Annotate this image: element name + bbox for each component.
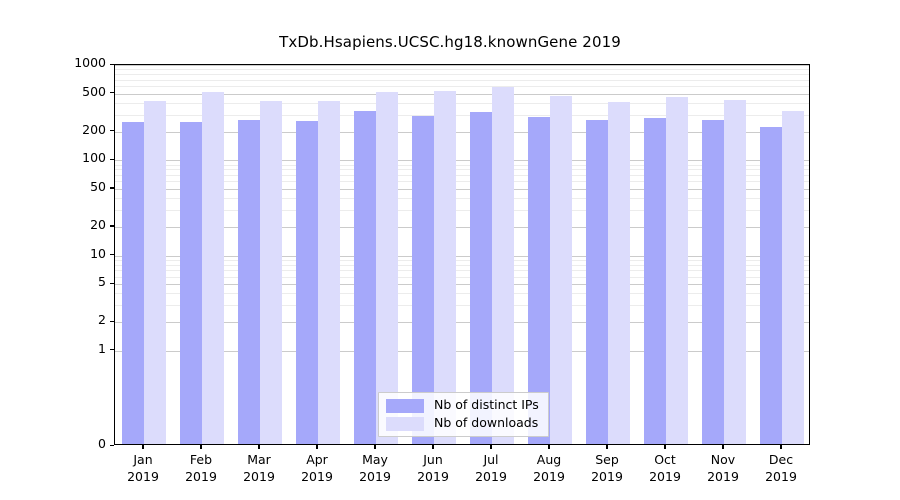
bars-layer <box>115 65 809 444</box>
bar-mar-downloads <box>260 101 282 444</box>
y-tick-mark <box>110 187 114 188</box>
y-tick-mark <box>110 321 114 322</box>
bar-jan-downloads <box>144 101 166 444</box>
bar-jan-ips <box>122 122 144 444</box>
y-tick-label: 2 <box>62 314 106 327</box>
bar-nov-ips <box>702 120 724 444</box>
x-tick-label-dec: Dec2019 <box>741 452 821 485</box>
bar-nov-downloads <box>724 100 746 444</box>
y-tick-label: 500 <box>62 86 106 99</box>
bar-dec-ips <box>760 127 782 444</box>
y-tick-mark <box>110 349 114 350</box>
bar-dec-downloads <box>782 111 804 444</box>
bar-oct-ips <box>644 118 666 444</box>
y-tick-label: 0 <box>62 438 106 451</box>
legend-swatch-downloads <box>386 417 424 431</box>
x-tick-year: 2019 <box>741 469 821 486</box>
y-tick-mark <box>110 92 114 93</box>
legend-swatch-ips <box>386 399 424 413</box>
y-tick-label: 5 <box>62 276 106 289</box>
chart-legend: Nb of distinct IPs Nb of downloads <box>378 392 549 437</box>
bar-sep-downloads <box>608 102 630 444</box>
bar-apr-ips <box>296 121 318 444</box>
bar-oct-downloads <box>666 97 688 444</box>
chart-title: TxDb.Hsapiens.UCSC.hg18.knownGene 2019 <box>0 33 900 51</box>
y-tick-mark <box>110 130 114 131</box>
x-tick-mark <box>142 445 143 449</box>
x-tick-mark <box>432 445 433 449</box>
y-tick-label: 1000 <box>62 57 106 70</box>
y-tick-label: 10 <box>62 248 106 261</box>
legend-label-downloads: Nb of downloads <box>434 417 538 430</box>
y-tick-label: 100 <box>62 152 106 165</box>
bar-apr-downloads <box>318 101 340 444</box>
chart-figure: TxDb.Hsapiens.UCSC.hg18.knownGene 2019 0… <box>0 0 900 500</box>
y-tick-label: 20 <box>62 219 106 232</box>
y-tick-label: 200 <box>62 124 106 137</box>
x-tick-mark <box>490 445 491 449</box>
x-tick-mark <box>722 445 723 449</box>
legend-label-ips: Nb of distinct IPs <box>434 399 539 412</box>
y-tick-mark <box>110 159 114 160</box>
y-tick-mark <box>110 445 114 446</box>
x-tick-mark <box>316 445 317 449</box>
y-tick-mark <box>110 64 114 65</box>
x-tick-mark <box>548 445 549 449</box>
x-tick-mark <box>606 445 607 449</box>
x-tick-mark <box>374 445 375 449</box>
x-tick-month: Dec <box>741 452 821 469</box>
x-tick-mark <box>200 445 201 449</box>
bar-aug-downloads <box>550 96 572 444</box>
x-tick-mark <box>780 445 781 449</box>
plot-area <box>114 64 810 445</box>
y-axis-labels: 01251020501002005001000 <box>60 0 106 500</box>
legend-item-downloads: Nb of downloads <box>386 416 539 431</box>
y-tick-mark <box>110 225 114 226</box>
bar-jul-downloads <box>492 87 514 444</box>
x-tick-mark <box>258 445 259 449</box>
y-tick-mark <box>110 254 114 255</box>
bar-sep-ips <box>586 120 608 444</box>
y-tick-mark <box>110 283 114 284</box>
bar-may-ips <box>354 111 376 444</box>
bar-feb-downloads <box>202 92 224 444</box>
legend-item-ips: Nb of distinct IPs <box>386 398 539 413</box>
y-tick-label: 50 <box>62 181 106 194</box>
bar-mar-ips <box>238 120 260 444</box>
x-tick-mark <box>664 445 665 449</box>
y-tick-label: 1 <box>62 343 106 356</box>
bar-feb-ips <box>180 122 202 444</box>
